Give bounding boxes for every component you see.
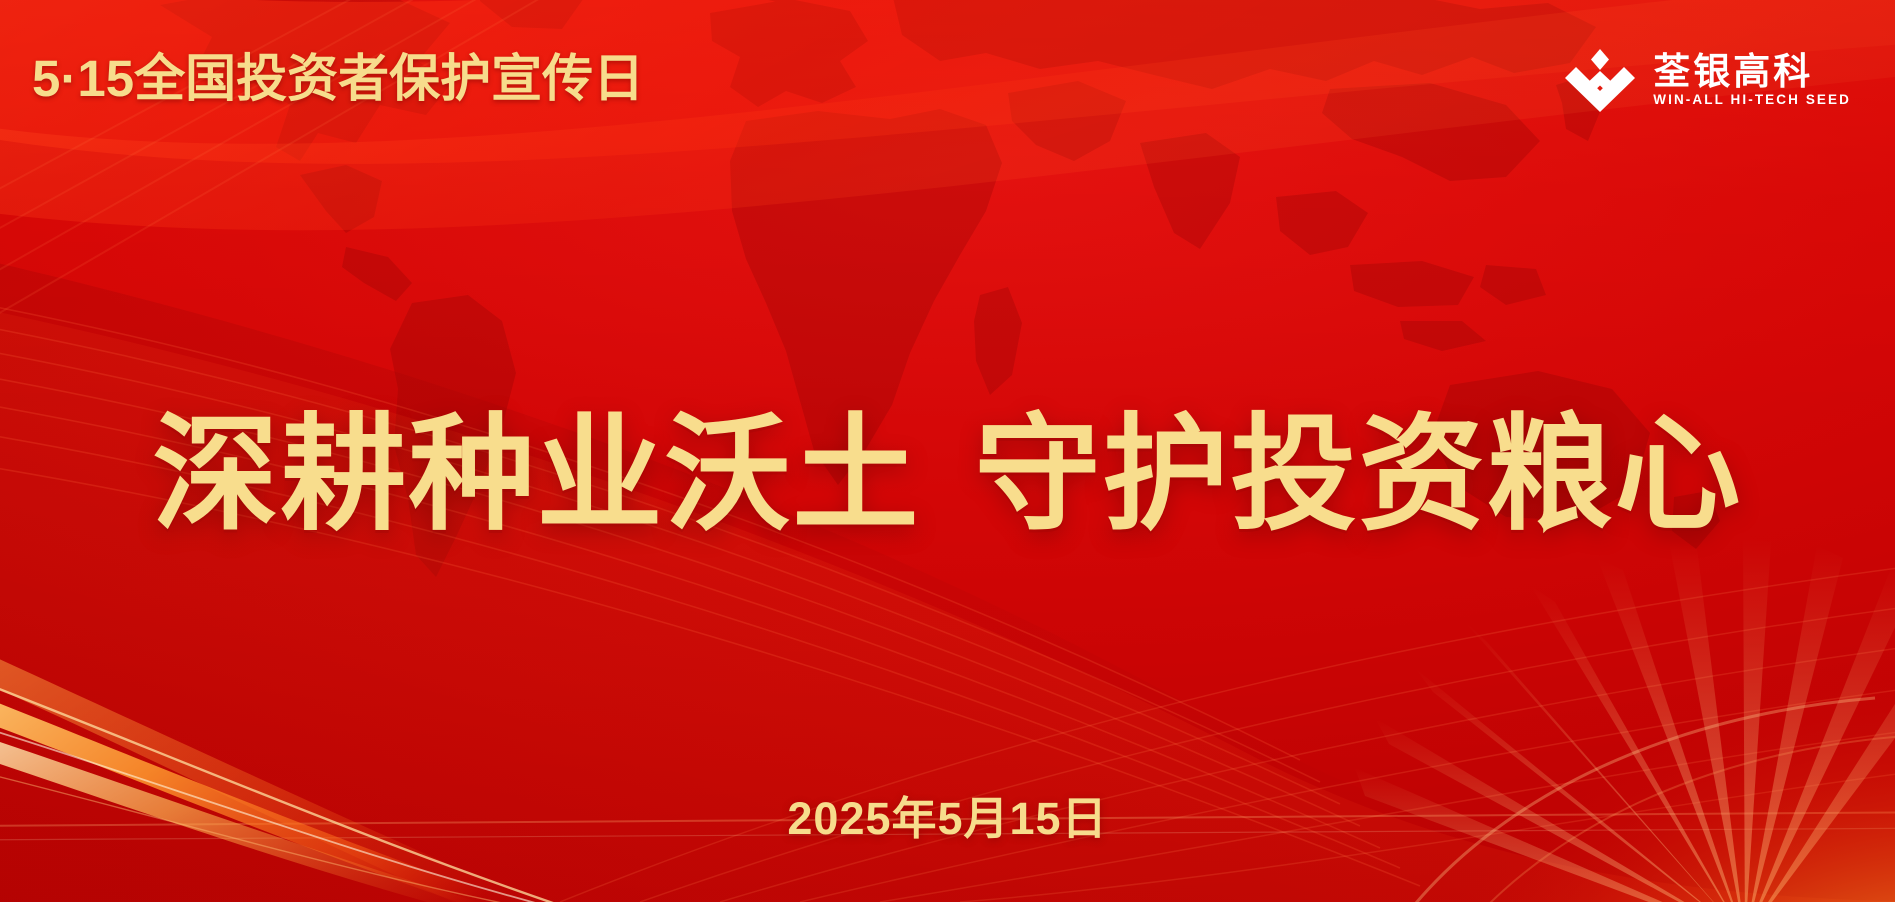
headline-phrase-right: 守护投资粮心 (975, 404, 1743, 545)
company-logo: 荃银高科 WIN-ALL HI-TECH SEED (1564, 47, 1851, 113)
company-logo-text: 荃银高科 WIN-ALL HI-TECH SEED (1653, 53, 1851, 107)
headline-phrase-left: 深耕种业沃土 (153, 404, 921, 545)
banner-headline: 深耕种业沃土守护投资粮心 (0, 412, 1895, 538)
company-name-en: WIN-ALL HI-TECH SEED (1653, 93, 1851, 107)
win-all-chevron-logo-icon (1564, 47, 1636, 113)
company-name-cn: 荃银高科 (1653, 53, 1851, 90)
campaign-eyebrow-title: 5·15全国投资者保护宣传日 (32, 52, 644, 106)
event-date: 2025年5月15日 (0, 796, 1895, 841)
banner-content: 5·15全国投资者保护宣传日 荃银高科 WIN-ALL HI-TECH SEE (0, 0, 1895, 902)
investor-protection-day-banner: 5·15全国投资者保护宣传日 荃银高科 WIN-ALL HI-TECH SEE (0, 0, 1895, 902)
